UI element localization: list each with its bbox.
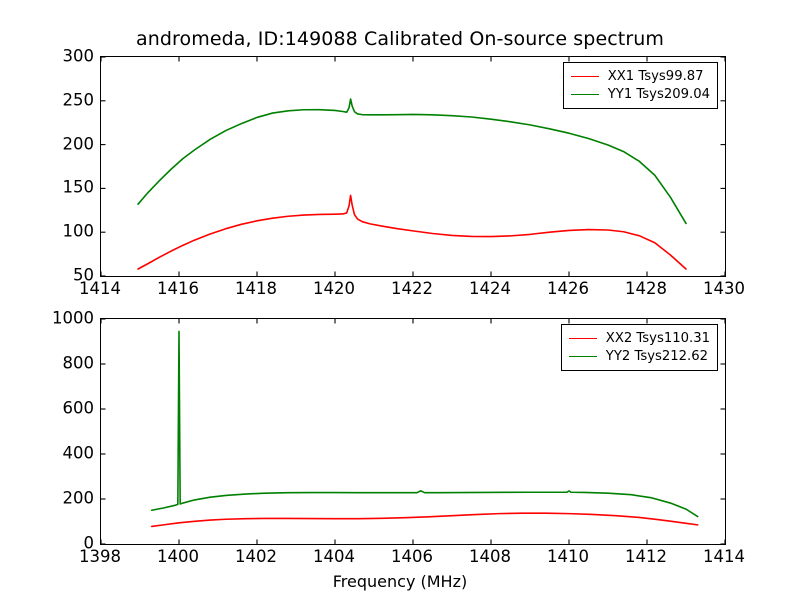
- y-tick-label: 1000: [34, 309, 94, 328]
- x-tick-label: 1402: [226, 547, 286, 566]
- x-tick-label: 1410: [538, 547, 598, 566]
- y-axis-ticklabels-top: 50100150200250300: [30, 56, 94, 275]
- x-tick-label: 1412: [616, 547, 676, 566]
- x-tick-label: 1408: [460, 547, 520, 566]
- legend-swatch-yy2: [569, 356, 597, 357]
- legend-swatch-yy1: [571, 94, 599, 95]
- legend-label-xx1: XX1 Tsys99.87: [608, 69, 704, 84]
- y-tick-label: 100: [34, 222, 94, 241]
- legend-bottom: XX2 Tsys110.31 YY2 Tsys212.62: [561, 324, 718, 371]
- y-axis-ticklabels-bottom: 02004006008001000: [30, 318, 94, 543]
- legend-entry: YY2 Tsys212.62: [569, 347, 710, 365]
- legend-swatch-xx1: [571, 76, 599, 77]
- x-tick-label: 1414: [70, 279, 130, 298]
- x-tick-label: 1420: [304, 279, 364, 298]
- legend-swatch-xx2: [569, 338, 597, 339]
- x-tick-label: 1400: [148, 547, 208, 566]
- x-tick-label: 1406: [382, 547, 442, 566]
- legend-label-yy2: YY2 Tsys212.62: [606, 349, 708, 364]
- y-tick-label: 250: [34, 90, 94, 109]
- x-axis-ticklabels-top: 141414161418142014221424142614281430: [0, 279, 800, 305]
- x-tick-label: 1422: [382, 279, 442, 298]
- page-title: andromeda, ID:149088 Calibrated On-sourc…: [0, 28, 800, 50]
- y-tick-label: 800: [34, 354, 94, 373]
- y-tick-label: 300: [34, 47, 94, 66]
- x-axis-ticklabels-bottom: 139814001402140414061408141014121414: [0, 547, 800, 573]
- legend-top: XX1 Tsys99.87 YY1 Tsys209.04: [563, 62, 718, 109]
- y-tick-label: 600: [34, 399, 94, 418]
- x-tick-label: 1418: [226, 279, 286, 298]
- y-tick-label: 150: [34, 178, 94, 197]
- legend-entry: XX2 Tsys110.31: [569, 329, 710, 347]
- legend-entry: YY1 Tsys209.04: [571, 85, 710, 103]
- x-tick-label: 1424: [460, 279, 520, 298]
- y-tick-label: 200: [34, 489, 94, 508]
- series-line: [138, 99, 686, 223]
- x-tick-label: 1414: [694, 547, 754, 566]
- x-tick-label: 1416: [148, 279, 208, 298]
- x-tick-label: 1404: [304, 547, 364, 566]
- legend-label-xx2: XX2 Tsys110.31: [606, 331, 710, 346]
- x-axis-label: Frequency (MHz): [0, 572, 800, 591]
- legend-entry: XX1 Tsys99.87: [571, 67, 710, 85]
- x-tick-label: 1426: [538, 279, 598, 298]
- spectrum-figure: andromeda, ID:149088 Calibrated On-sourc…: [0, 0, 800, 600]
- y-tick-label: 200: [34, 134, 94, 153]
- x-tick-label: 1398: [70, 547, 130, 566]
- series-line: [138, 195, 686, 269]
- legend-label-yy1: YY1 Tsys209.04: [608, 87, 710, 102]
- series-line: [152, 513, 698, 526]
- y-tick-label: 400: [34, 444, 94, 463]
- x-tick-label: 1428: [616, 279, 676, 298]
- x-tick-label: 1430: [694, 279, 754, 298]
